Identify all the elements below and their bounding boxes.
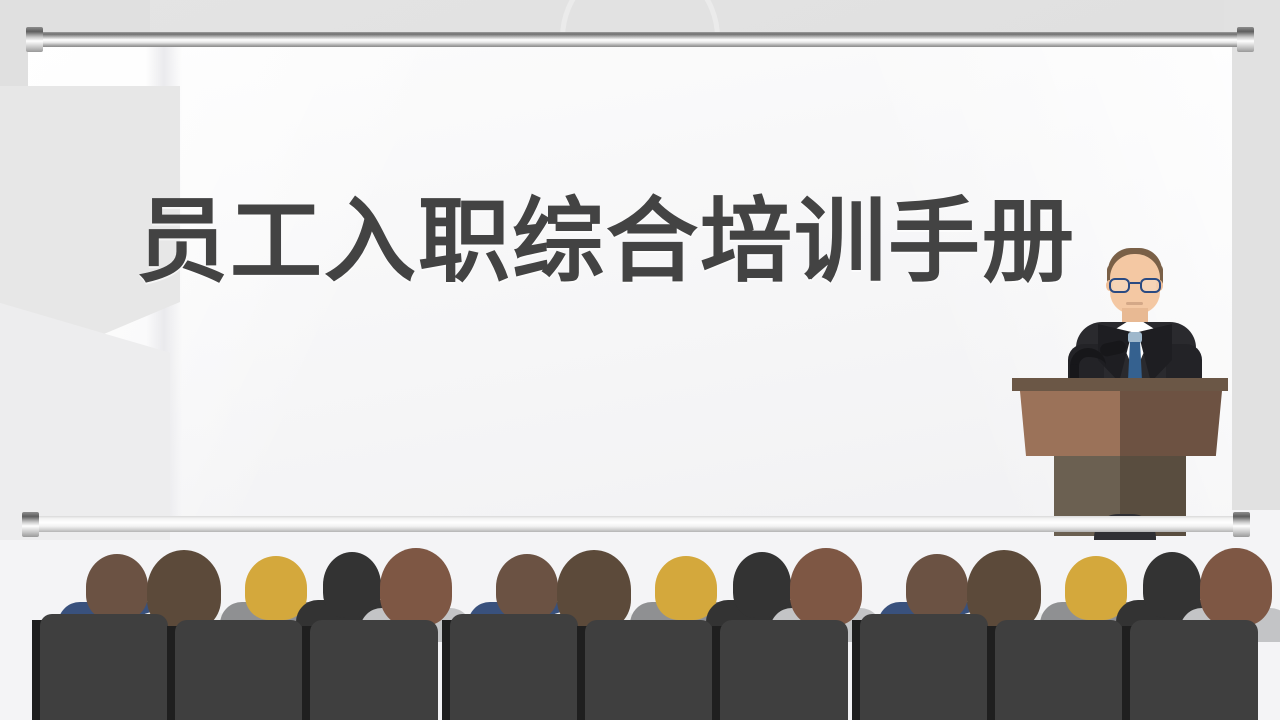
screen-top-rail-cap-right <box>1237 27 1254 52</box>
glasses-lens-left <box>1109 278 1130 293</box>
screen-top-rail-cap-left <box>26 27 43 52</box>
podium-desktop <box>1012 378 1228 391</box>
screen-top-rail <box>32 32 1244 47</box>
audience-chair <box>40 614 168 720</box>
audience-chair <box>175 620 303 720</box>
glasses-lens-right <box>1140 278 1161 293</box>
audience-group <box>20 500 440 720</box>
audience-member-head <box>1200 548 1272 626</box>
audience-chair <box>310 620 438 720</box>
glasses-icon <box>1109 278 1161 293</box>
audience-chair <box>1130 620 1258 720</box>
audience-chair <box>450 614 578 720</box>
presenter-and-podium <box>1012 236 1228 532</box>
glasses-bridge <box>1130 282 1140 284</box>
audience-chair <box>720 620 848 720</box>
podium-front-left <box>1020 391 1120 456</box>
presentation-slide: 员工入职综合培训手册 <box>0 0 1280 720</box>
audience-chair <box>995 620 1123 720</box>
audience-chair <box>860 614 988 720</box>
audience-group <box>430 500 850 720</box>
slide-title: 员工入职综合培训手册 <box>136 196 1076 288</box>
audience-seating <box>0 500 1280 720</box>
audience-chair <box>585 620 713 720</box>
audience-group <box>840 500 1260 720</box>
background-right-panel <box>1224 0 1280 560</box>
presenter-tie-knot <box>1128 332 1142 343</box>
podium-front-right <box>1120 391 1222 456</box>
presenter-mouth <box>1126 302 1143 305</box>
